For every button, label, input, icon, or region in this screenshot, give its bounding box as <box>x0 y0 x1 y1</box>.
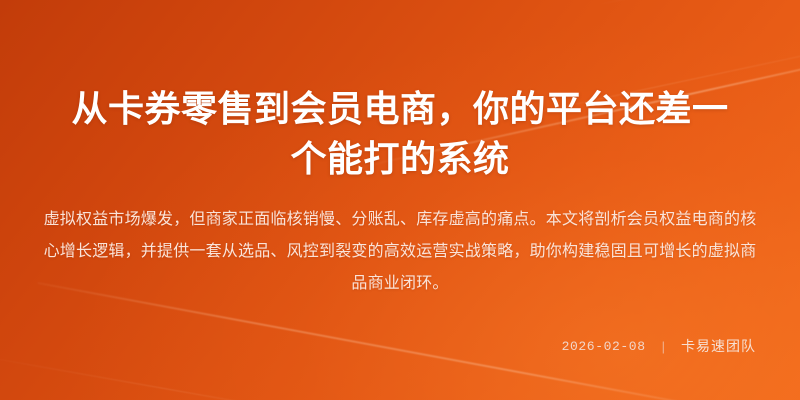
banner-content: 从卡券零售到会员电商，你的平台还差一个能打的系统 虚拟权益市场爆发，但商家正面临… <box>0 0 800 400</box>
meta-separator: | <box>662 339 665 354</box>
banner-summary: 虚拟权益市场爆发，但商家正面临核销慢、分账乱、库存虚高的痛点。本文将剖析会员权益… <box>0 184 800 300</box>
publish-date: 2026-02-08 <box>562 339 646 354</box>
banner-meta: 2026-02-08 | 卡易速团队 <box>0 336 800 400</box>
author-team: 卡易速团队 <box>681 336 756 356</box>
banner-title: 从卡券零售到会员电商，你的平台还差一个能打的系统 <box>0 0 800 184</box>
article-cover-banner: 从卡券零售到会员电商，你的平台还差一个能打的系统 虚拟权益市场爆发，但商家正面临… <box>0 0 800 400</box>
